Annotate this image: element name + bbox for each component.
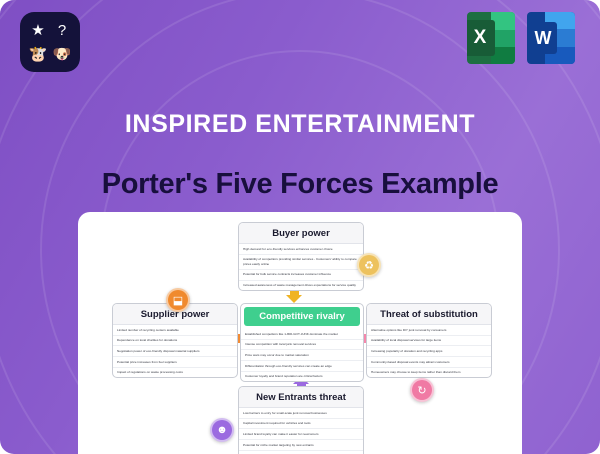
force-title: New Entrants threat [239,387,363,408]
force-title: Competitive rivalry [244,307,360,326]
force-box-threat-of-substitution[interactable]: Threat of substitution Alternative optio… [366,303,492,378]
brand-logo: ★ ? 🐮 🐶 [20,12,80,72]
force-box-supplier-power[interactable]: Supplier power Limited number of recycli… [112,303,238,378]
page-title: Porter's Five Forces Example [0,168,600,201]
slide-canvas: ★ ? 🐮 🐶 X W INSPIRED ENTERTAINMENT Porte… [0,0,600,454]
force-box-competitive-rivalry[interactable]: Competitive rivalry Established competit… [240,303,364,382]
force-item: Increased awareness of waste management … [239,281,363,291]
force-item: Negotiation power of eco-friendly dispos… [113,346,237,357]
force-item: Low barriers to entry for small-scale ju… [239,408,363,419]
question-mark-icon: ? [51,19,73,41]
force-item: Availability of local disposal services … [367,336,491,347]
force-item: Potential for bulk service contracts inc… [239,270,363,281]
brand-name: INSPIRED ENTERTAINMENT [0,110,600,139]
force-item: Availability of competitors providing si… [239,255,363,270]
entrants-badge-icon: ☻ [210,418,234,442]
word-letter: W [529,22,557,54]
force-item-list: Limited number of recycling centers avai… [113,325,237,377]
star-icon: ★ [27,19,49,41]
force-item: Limited number of recycling centers avai… [113,325,237,336]
force-item: Differentiation through eco-friendly ser… [241,361,363,372]
force-item-list: High demand for eco-friendly services en… [239,244,363,290]
substitution-badge-icon: ↻ [410,378,434,402]
force-item: Established competitors like 1-800-GOT-J… [241,329,363,340]
dog-icon: 🐶 [51,43,73,65]
force-item: Potential for niche market targeting by … [239,440,363,451]
force-title: Buyer power [239,223,363,244]
force-item: Capital investment required for vehicles… [239,419,363,430]
office-icon-group: X W [467,12,575,64]
excel-letter: X [467,20,495,56]
supplier-badge-icon: ⬓ [166,288,190,312]
force-box-buyer-power[interactable]: Buyer power High demand for eco-friendly… [238,222,364,291]
force-item: Customer loyalty and brand reputation ar… [241,372,363,382]
buyer-badge-icon: ♻ [357,253,381,277]
force-box-new-entrants-threat[interactable]: New Entrants threat Low barriers to entr… [238,386,364,454]
force-item-list: Established competitors like 1-800-GOT-J… [241,329,363,381]
force-item: Homeowners may choose to keep items rath… [367,368,491,378]
word-icon[interactable]: W [527,12,575,64]
force-item: Increasing popularity of donation and re… [367,346,491,357]
force-item: Dependence on local charities for donati… [113,336,237,347]
force-item: Potential price increases from fuel supp… [113,357,237,368]
arrow-head [286,295,302,303]
force-item-list: Alternative options like DIY junk remova… [367,325,491,377]
force-item: High demand for eco-friendly services en… [239,244,363,255]
force-item: Limited brand loyalty can make it easier… [239,429,363,440]
force-item: Community-based disposal events may attr… [367,357,491,368]
force-item: Impact of regulations on waste processin… [113,368,237,378]
cow-icon: 🐮 [27,43,49,65]
force-item: Alternative options like DIY junk remova… [367,325,491,336]
force-item: Price wars may occur due to market satur… [241,350,363,361]
excel-icon[interactable]: X [467,12,515,64]
force-item: Intense competition with local junk remo… [241,340,363,351]
force-item-list: Low barriers to entry for small-scale ju… [239,408,363,454]
force-title: Threat of substitution [367,304,491,325]
